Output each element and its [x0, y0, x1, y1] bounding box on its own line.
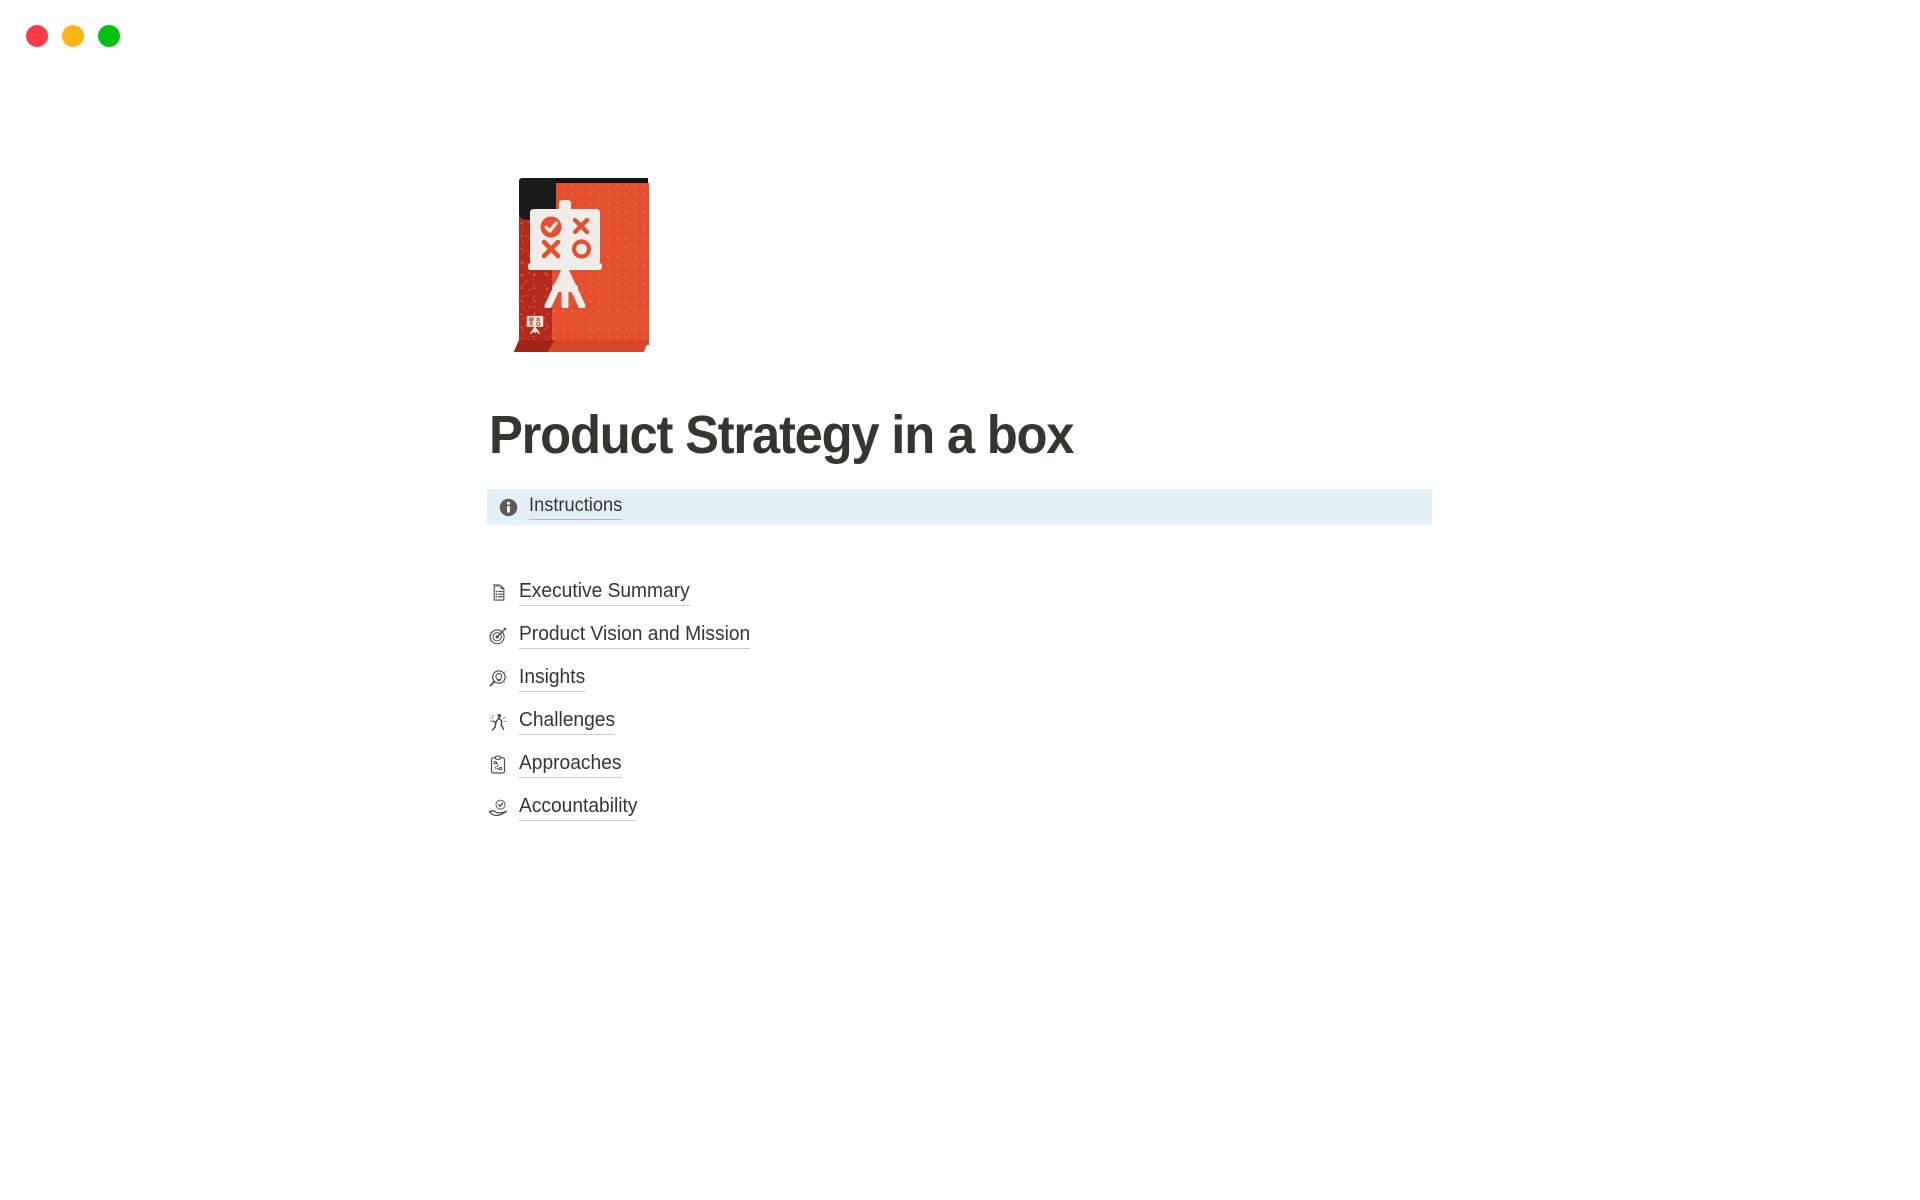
spine-easel-icon — [524, 314, 546, 336]
clipboard-path-icon — [487, 754, 509, 776]
instructions-callout[interactable]: Instructions — [487, 489, 1432, 525]
link-approaches[interactable]: Approaches — [519, 751, 621, 778]
page-title[interactable]: Product Strategy in a box — [489, 404, 1073, 466]
clipboard-list-icon — [487, 582, 509, 604]
list-item[interactable]: Approaches — [487, 743, 1187, 786]
hand-check-icon — [487, 797, 509, 819]
magnifier-idea-icon — [487, 668, 509, 690]
instructions-link[interactable]: Instructions — [529, 495, 622, 520]
target-dart-icon — [487, 625, 509, 647]
info-circle-icon — [499, 498, 518, 517]
page-cover-icon[interactable] — [516, 178, 662, 350]
app-window: Product Strategy in a box Instructions — [0, 0, 1920, 1200]
list-item[interactable]: Challenges — [487, 700, 1187, 743]
box-bottom-edge — [514, 340, 649, 352]
list-item[interactable]: Product Vision and Mission — [487, 614, 1187, 657]
list-item[interactable]: Accountability — [487, 786, 1187, 829]
list-item[interactable]: Executive Summary — [487, 571, 1187, 614]
product-strategy-box-illustration — [516, 178, 662, 350]
climbing-figure-icon — [487, 711, 509, 733]
link-executive-summary[interactable]: Executive Summary — [519, 579, 690, 606]
link-product-vision-and-mission[interactable]: Product Vision and Mission — [519, 622, 750, 649]
list-item[interactable]: Insights — [487, 657, 1187, 700]
link-challenges[interactable]: Challenges — [519, 708, 615, 735]
link-insights[interactable]: Insights — [519, 665, 585, 692]
document-page: Product Strategy in a box Instructions — [0, 0, 1920, 1200]
strategy-easel-icon — [528, 200, 602, 308]
page-link-list: Executive Summary Product Vision and Mis… — [487, 571, 1187, 829]
link-accountability[interactable]: Accountability — [519, 794, 637, 821]
